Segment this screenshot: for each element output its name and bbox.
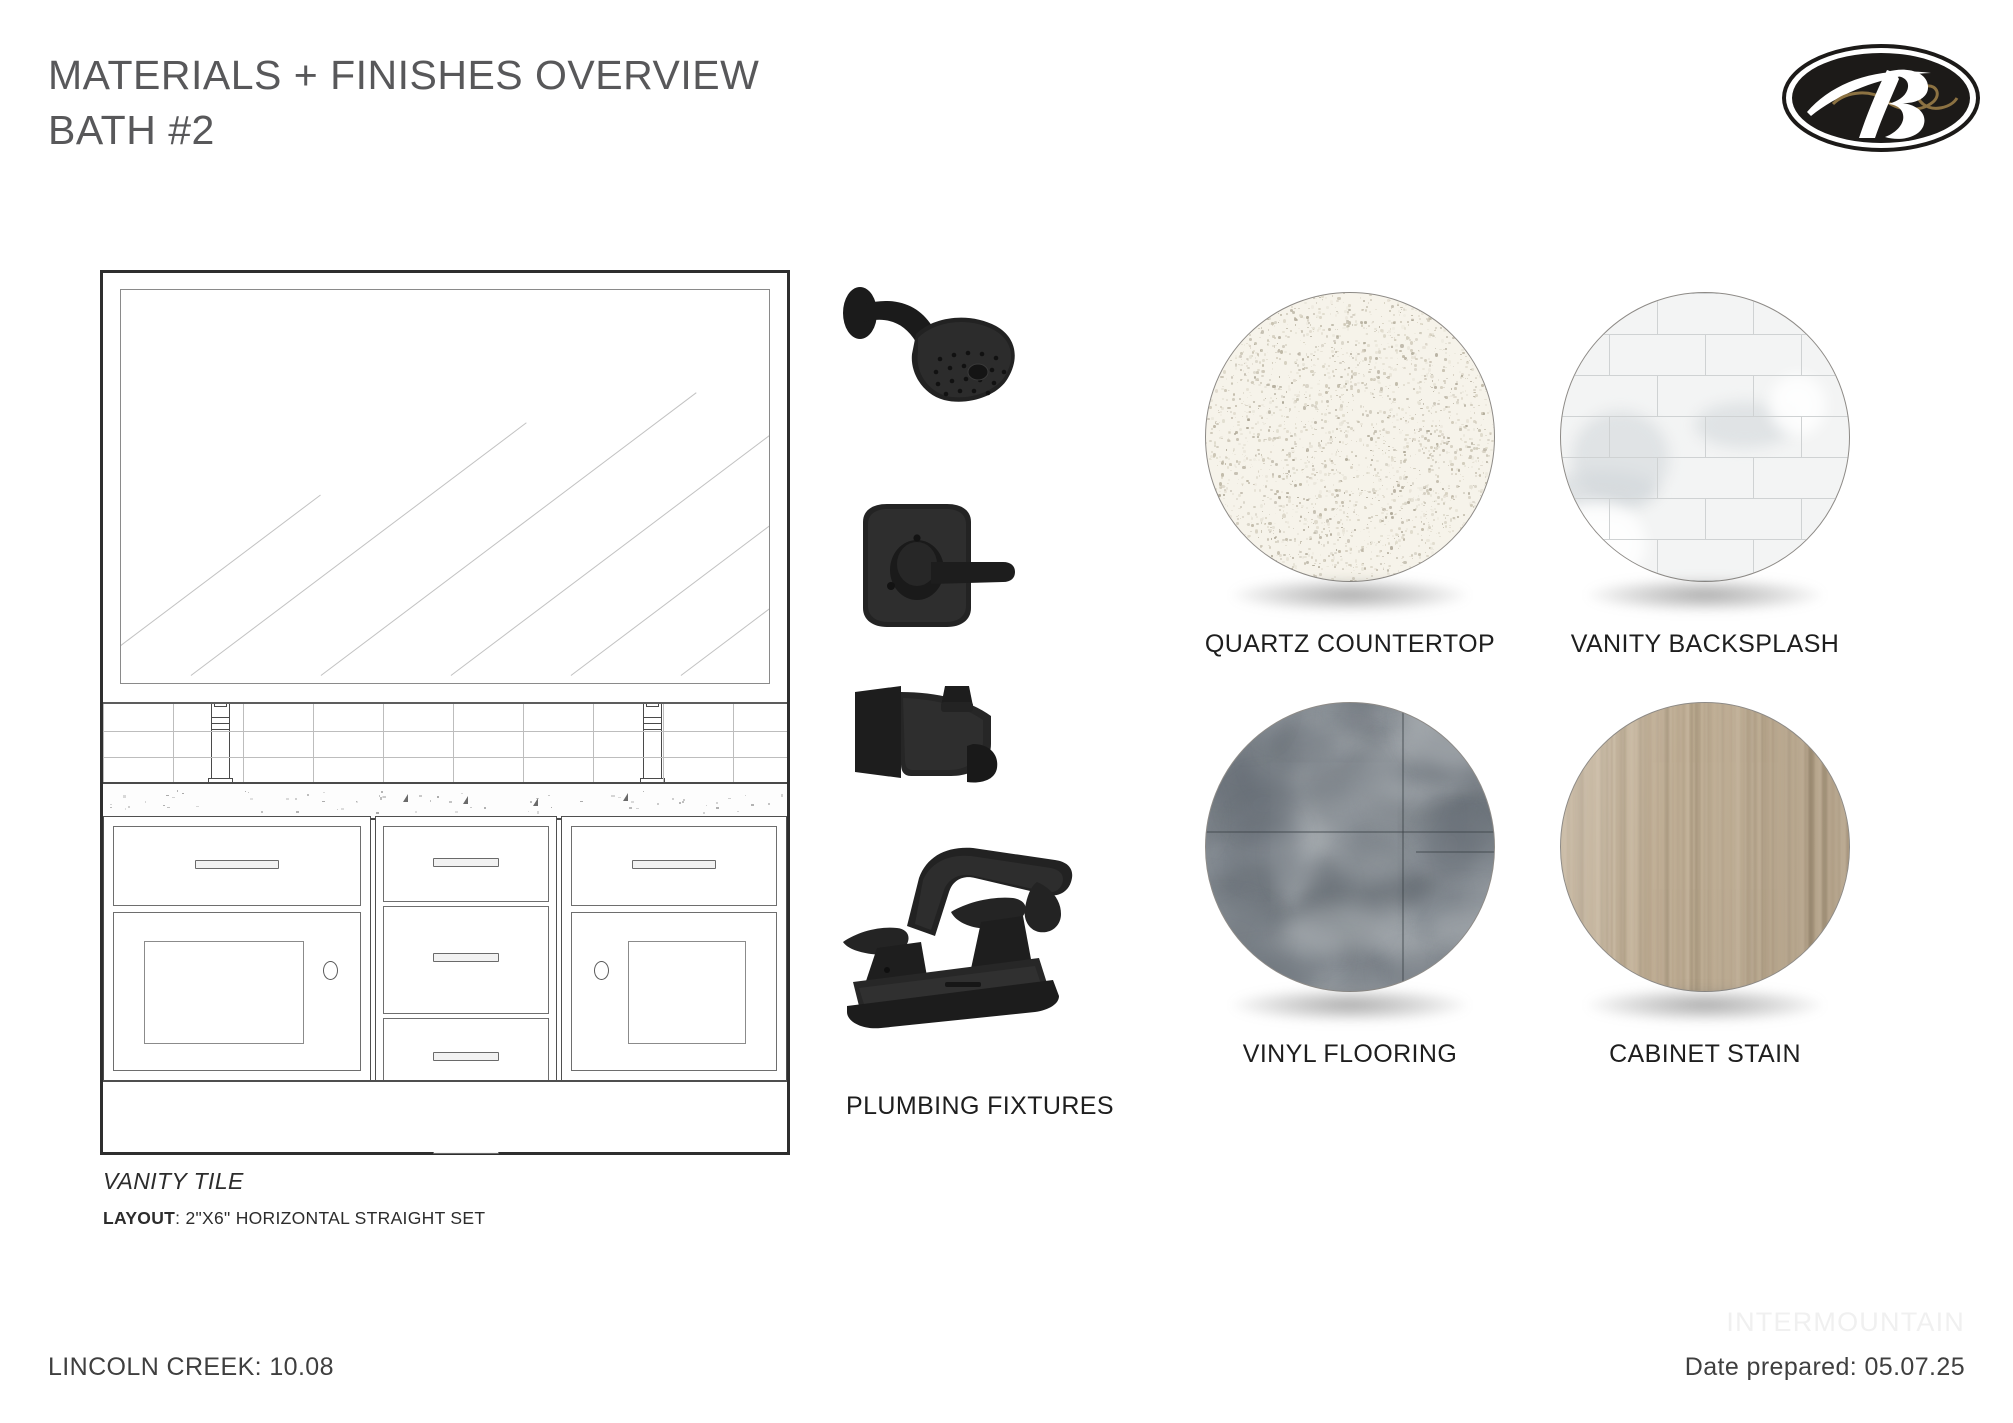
quartz-speckle (1318, 346, 1319, 347)
tile-joint-vertical (1609, 416, 1610, 457)
quartz-speckle (1377, 370, 1380, 373)
quartz-speckle (1479, 389, 1482, 391)
countertop-fleck (307, 794, 309, 796)
quartz-speckle (1411, 308, 1414, 310)
quartz-speckle (1347, 426, 1350, 429)
quartz-speckle (1450, 463, 1453, 466)
shower-valve-trim-icon (835, 500, 1055, 655)
quartz-speckle (1305, 465, 1308, 468)
quartz-speckle (1348, 402, 1349, 403)
tile-joint-vertical (733, 757, 734, 784)
quartz-speckle (1401, 531, 1403, 533)
drawer-pull[interactable] (433, 858, 499, 867)
quartz-speckle (1298, 544, 1300, 546)
center-drawer-stack[interactable] (375, 816, 557, 1081)
quartz-speckle (1415, 338, 1418, 341)
quartz-speckle (1426, 555, 1428, 557)
quartz-speckle (1297, 533, 1299, 535)
quartz-speckle (1438, 493, 1439, 494)
swatch-backsplash[interactable]: VANITY BACKSPLASH (1545, 292, 1865, 659)
quartz-speckle (1325, 384, 1328, 388)
quartz-speckle (1251, 524, 1254, 527)
quartz-speckle (1431, 509, 1434, 512)
quartz-speckle (1343, 534, 1344, 535)
quartz-speckle (1247, 367, 1250, 369)
quartz-speckle (1383, 567, 1384, 568)
quartz-speckle (1337, 532, 1340, 536)
quartz-speckle (1410, 485, 1411, 486)
quartz-speckle (1223, 494, 1224, 495)
quartz-speckle (1303, 317, 1304, 319)
quartz-speckle (1283, 319, 1286, 323)
quartz-speckle (1341, 394, 1343, 396)
quartz-speckle (1389, 506, 1392, 509)
quartz-speckle (1286, 473, 1287, 474)
quartz-speckle (1280, 389, 1282, 391)
quartz-speckle (1401, 486, 1404, 489)
quartz-speckle (1329, 458, 1331, 460)
quartz-speckle (1387, 503, 1389, 504)
quartz-speckle (1421, 539, 1423, 541)
quartz-speckle (1334, 342, 1337, 345)
right-door-knob[interactable] (594, 961, 609, 980)
quartz-speckle (1399, 510, 1400, 511)
tile-joint-vertical (243, 757, 244, 784)
quartz-speckle (1225, 486, 1226, 487)
quartz-speckle (1351, 351, 1352, 353)
quartz-speckle (1465, 366, 1468, 368)
quartz-speckle (1361, 309, 1364, 311)
quartz-speckle (1275, 352, 1276, 353)
quartz-speckle (1222, 386, 1224, 388)
quartz-speckle (1339, 428, 1340, 429)
quartz-speckle (1292, 467, 1295, 471)
countertop-fleck (716, 807, 718, 809)
quartz-speckle (1475, 475, 1477, 477)
quartz-speckle (1388, 456, 1390, 458)
quartz-speckle (1324, 486, 1326, 487)
quartz-speckle (1351, 491, 1352, 492)
quartz-speckle (1456, 402, 1459, 405)
quartz-speckle (1352, 324, 1353, 326)
quartz-speckle (1388, 377, 1390, 379)
quartz-speckle (1423, 501, 1425, 503)
quartz-speckle (1216, 423, 1218, 425)
quartz-speckle (1240, 369, 1242, 372)
quartz-speckle (1305, 397, 1307, 398)
countertop-fleck (455, 811, 458, 813)
quartz-speckle (1405, 412, 1407, 414)
quartz-speckle (1302, 363, 1305, 366)
quartz-speckle (1435, 511, 1437, 513)
quartz-speckle (1390, 478, 1392, 479)
left-top-drawer[interactable] (113, 826, 361, 906)
quartz-speckle (1317, 349, 1319, 351)
quartz-speckle (1334, 361, 1336, 363)
quartz-speckle (1384, 563, 1386, 564)
quartz-speckle (1351, 535, 1353, 537)
quartz-speckle (1322, 300, 1323, 301)
tile-joint-vertical (103, 704, 104, 731)
quartz-speckle (1276, 429, 1279, 433)
quartz-speckle (1407, 501, 1410, 503)
quartz-speckle (1214, 488, 1217, 491)
tile-joint-vertical (453, 704, 454, 731)
quartz-speckle (1385, 544, 1387, 546)
drawer-pull[interactable] (433, 953, 499, 962)
quartz-speckle (1357, 519, 1360, 521)
quartz-speckle (1305, 344, 1306, 345)
quartz-speckle (1442, 369, 1444, 372)
quartz-speckle (1413, 566, 1416, 568)
quartz-speckle (1298, 411, 1299, 412)
quartz-speckle (1415, 414, 1417, 415)
quartz-speckle (1262, 364, 1264, 367)
quartz-speckle (1351, 451, 1353, 453)
quartz-speckle (1225, 463, 1226, 465)
left-cabinet-bay[interactable] (103, 816, 371, 1081)
quartz-speckle (1438, 532, 1440, 535)
quartz-speckle (1355, 367, 1357, 368)
quartz-speckle (1372, 450, 1374, 452)
quartz-speckle (1299, 556, 1301, 558)
quartz-speckle (1403, 384, 1406, 386)
quartz-speckle (1393, 475, 1395, 477)
quartz-speckle (1234, 464, 1236, 467)
tile-joint-horizontal (103, 757, 787, 758)
right-door[interactable] (571, 912, 777, 1071)
quartz-speckle (1257, 449, 1260, 451)
mirror-reflection-line (191, 422, 527, 676)
swatch-disc-quartz[interactable] (1205, 292, 1495, 582)
quartz-speckle (1226, 399, 1228, 401)
quartz-speckle (1334, 552, 1337, 554)
quartz-speckle (1248, 411, 1251, 413)
tile-joint-vertical (733, 704, 734, 731)
quartz-speckle (1461, 349, 1463, 352)
quartz-speckle (1331, 347, 1332, 348)
quartz-speckle (1371, 423, 1373, 426)
quartz-speckle (1396, 413, 1399, 415)
plumbing-fixtures-group (845, 300, 1135, 1100)
quartz-speckle (1397, 484, 1400, 487)
quartz-speckle (1364, 567, 1366, 570)
tile-joint-vertical (663, 704, 664, 731)
brand-logo-icon (1781, 42, 1981, 154)
quartz-speckle (1459, 480, 1461, 482)
quartz-speckle (1250, 467, 1251, 468)
vinyl-mottle (1424, 812, 1479, 880)
quartz-speckle (1226, 487, 1228, 489)
quartz-speckle (1232, 398, 1235, 401)
quartz-speckle (1287, 454, 1288, 455)
left-door[interactable] (113, 912, 361, 1071)
quartz-speckle (1322, 313, 1325, 315)
quartz-speckle (1238, 479, 1239, 480)
cabinetry (103, 816, 787, 1081)
quartz-speckle (1314, 530, 1317, 534)
quartz-speckle (1394, 461, 1396, 462)
quartz-speckle (1417, 322, 1418, 323)
quartz-speckle (1294, 308, 1296, 309)
quartz-speckle (1287, 521, 1289, 523)
quartz-speckle (1350, 353, 1352, 355)
quartz-speckle (1475, 377, 1477, 379)
quartz-speckle (1321, 419, 1323, 421)
tile-joint-vertical (103, 757, 104, 784)
quartz-speckle (1235, 357, 1236, 358)
swatch-flooring[interactable]: VINYL FLOORING (1190, 702, 1510, 1069)
quartz-speckle (1399, 467, 1401, 468)
quartz-speckle (1368, 517, 1371, 519)
swatch-disc-backsplash[interactable] (1560, 292, 1850, 582)
quartz-speckle (1400, 344, 1403, 348)
quartz-speckle (1481, 384, 1484, 387)
quartz-speckle (1277, 343, 1278, 344)
quartz-speckle (1333, 484, 1335, 486)
quartz-speckle (1393, 573, 1396, 575)
quartz-speckle (1284, 351, 1287, 354)
quartz-speckle (1304, 394, 1305, 395)
quartz-speckle (1258, 453, 1260, 455)
quartz-speckle (1376, 460, 1378, 463)
quartz-speckle (1399, 431, 1402, 434)
swatch-disc-flooring[interactable] (1205, 702, 1495, 992)
quartz-speckle (1327, 405, 1329, 407)
tile-joint-horizontal (1561, 375, 1849, 376)
tile-joint-vertical (173, 704, 174, 731)
quartz-speckle (1421, 535, 1422, 536)
quartz-speckle (1306, 480, 1308, 483)
quartz-speckle (1340, 430, 1343, 432)
quartz-speckle (1282, 345, 1285, 348)
toe-kick (103, 1080, 787, 1152)
quartz-speckle (1252, 410, 1255, 413)
quartz-speckle (1393, 322, 1395, 323)
swatch-disc-cabinet-stain[interactable] (1560, 702, 1850, 992)
countertop-fleck (537, 811, 539, 813)
quartz-speckle (1331, 508, 1334, 510)
quartz-speckle (1333, 556, 1336, 559)
right-top-drawer[interactable] (571, 826, 777, 906)
vinyl-tile-seam (1416, 851, 1495, 853)
quartz-speckle (1319, 470, 1322, 474)
quartz-speckle (1435, 348, 1436, 349)
quartz-speckle (1418, 504, 1420, 505)
countertop-fleck (380, 797, 382, 799)
quartz-speckle (1487, 439, 1489, 441)
quartz-speckle (1343, 511, 1345, 513)
countertop-fleck (182, 793, 184, 794)
quartz-speckle (1233, 505, 1235, 507)
center-drawer-2[interactable] (383, 906, 549, 1014)
vinyl-mottle (1268, 726, 1339, 762)
quartz-speckle (1321, 427, 1323, 429)
drawer-pull[interactable] (433, 1052, 499, 1061)
quartz-speckle (1321, 568, 1323, 570)
quartz-speckle (1480, 499, 1481, 500)
quartz-speckle (1442, 488, 1444, 490)
quartz-speckle (1243, 401, 1244, 402)
quartz-speckle (1273, 533, 1274, 534)
quartz-speckle (1378, 331, 1379, 332)
quartz-speckle (1373, 397, 1375, 399)
quartz-speckle (1321, 531, 1323, 533)
quartz-speckle (1443, 442, 1446, 444)
quartz-speckle (1299, 502, 1301, 504)
quartz-speckle (1431, 469, 1434, 471)
quartz-speckle (1472, 462, 1474, 464)
quartz-speckle (1439, 536, 1440, 537)
quartz-speckle (1460, 474, 1462, 475)
quartz-speckle (1431, 413, 1432, 414)
quartz-speckle (1330, 436, 1332, 438)
quartz-speckle (1347, 368, 1348, 369)
left-door-knob[interactable] (323, 961, 338, 980)
quartz-speckle (1326, 400, 1329, 403)
quartz-speckle (1295, 423, 1297, 424)
quartz-speckle (1448, 465, 1449, 466)
quartz-speckle (1309, 445, 1312, 447)
quartz-speckle (1475, 394, 1478, 397)
quartz-speckle (1282, 505, 1285, 507)
vinyl-tile-seam (1206, 831, 1495, 833)
quartz-speckle (1342, 441, 1344, 444)
quartz-speckle (1401, 508, 1403, 509)
quartz-speckle (1445, 348, 1446, 349)
quartz-speckle (1431, 551, 1434, 555)
quartz-speckle (1235, 364, 1237, 367)
quartz-speckle (1389, 472, 1390, 473)
countertop-fleck (470, 807, 472, 808)
quartz-speckle (1470, 438, 1473, 440)
right-cabinet-bay[interactable] (561, 816, 787, 1081)
quartz-speckle (1453, 366, 1454, 367)
quartz-speckle (1369, 356, 1372, 360)
quartz-speckle (1404, 454, 1405, 456)
quartz-speckle (1362, 413, 1364, 416)
quartz-speckle (1275, 362, 1276, 363)
quartz-speckle (1412, 440, 1414, 442)
quartz-speckle (1314, 457, 1316, 459)
quartz-speckle (1330, 442, 1332, 444)
quartz-speckle (1373, 482, 1374, 483)
quartz-speckle (1400, 418, 1402, 420)
quartz-speckle (1347, 373, 1350, 376)
quartz-speckle (1480, 495, 1481, 496)
quartz-speckle (1338, 451, 1339, 452)
vinyl-mottle (1284, 905, 1394, 952)
quartz-speckle (1449, 508, 1452, 510)
countertop-chip-mark (463, 796, 468, 804)
quartz-speckle (1240, 518, 1241, 519)
swatch-cabinet-stain[interactable]: CABINET STAIN (1545, 702, 1865, 1069)
quartz-speckle (1396, 351, 1398, 354)
quartz-speckle (1269, 546, 1271, 548)
quartz-speckle (1317, 358, 1319, 360)
quartz-speckle (1307, 521, 1309, 522)
quartz-speckle (1397, 334, 1400, 337)
quartz-speckle (1368, 325, 1370, 327)
quartz-speckle (1419, 474, 1422, 476)
quartz-speckle (1326, 368, 1328, 370)
quartz-speckle (1369, 360, 1371, 363)
quartz-speckle (1306, 561, 1309, 564)
quartz-speckle (1296, 505, 1298, 507)
countertop-fleck (419, 795, 422, 797)
quartz-speckle (1364, 390, 1366, 392)
quartz-speckle (1339, 362, 1342, 365)
quartz-speckle (1274, 323, 1275, 324)
quartz-speckle (1389, 535, 1390, 536)
quartz-speckle (1423, 403, 1424, 404)
quartz-speckle (1399, 490, 1402, 492)
countertop-fleck (167, 807, 170, 808)
quartz-speckle (1249, 355, 1252, 359)
quartz-speckle (1457, 362, 1460, 365)
swatch-quartz[interactable]: QUARTZ COUNTERTOP (1190, 292, 1510, 659)
quartz-speckle (1433, 519, 1435, 521)
quartz-speckle (1261, 417, 1263, 419)
quartz-speckle (1283, 510, 1284, 511)
quartz-speckle (1318, 541, 1321, 544)
quartz-speckle (1410, 567, 1411, 568)
quartz-speckle (1473, 428, 1476, 431)
drawer-pull[interactable] (195, 860, 279, 869)
quartz-speckle (1261, 522, 1262, 524)
quartz-speckle (1485, 435, 1486, 437)
quartz-speckle (1298, 554, 1299, 555)
quartz-speckle (1385, 357, 1388, 359)
quartz-speckle (1320, 563, 1322, 564)
quartz-speckle (1284, 459, 1287, 461)
drawer-pull[interactable] (632, 860, 716, 869)
quartz-speckle (1300, 340, 1302, 341)
quartz-speckle (1226, 378, 1228, 380)
quartz-speckle (1352, 493, 1353, 495)
quartz-speckle (1344, 362, 1345, 363)
quartz-speckle (1485, 482, 1487, 485)
quartz-speckle (1347, 539, 1350, 542)
tub-spout-icon (841, 672, 1056, 807)
quartz-speckle (1379, 430, 1381, 432)
quartz-speckle (1315, 495, 1316, 497)
quartz-speckle (1429, 488, 1432, 491)
quartz-speckle (1456, 413, 1458, 415)
vinyl-tile-seam (1402, 703, 1404, 992)
quartz-speckle (1448, 488, 1449, 489)
quartz-speckle (1383, 443, 1385, 444)
quartz-speckle (1366, 383, 1367, 384)
quartz-speckle (1281, 460, 1282, 461)
quartz-speckle (1263, 399, 1265, 401)
tile-joint-horizontal (103, 731, 787, 732)
quartz-speckle (1344, 310, 1347, 313)
quartz-speckle (1262, 500, 1264, 501)
quartz-speckle (1427, 439, 1430, 442)
quartz-speckle (1224, 389, 1227, 392)
quartz-speckle (1392, 467, 1394, 469)
quartz-speckle (1444, 521, 1447, 524)
quartz-speckle (1246, 457, 1249, 460)
swatch-shadow (1588, 578, 1823, 612)
quartz-speckle (1439, 454, 1441, 456)
quartz-speckle (1390, 357, 1393, 359)
tile-joint-vertical (1657, 457, 1658, 498)
center-drawer-1[interactable] (383, 826, 549, 902)
quartz-speckle (1261, 327, 1262, 328)
quartz-speckle (1473, 382, 1474, 383)
